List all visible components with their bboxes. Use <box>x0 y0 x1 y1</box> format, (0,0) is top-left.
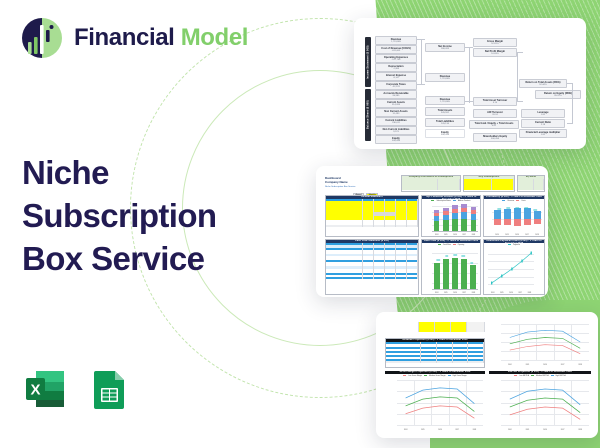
brand-logo[interactable]: Financial Model <box>20 16 248 60</box>
chart-plot-area: 700 810 830 820 640 <box>432 249 478 289</box>
dashboard-card[interactable]: Dashboard Company Name Niche Subscriptio… <box>316 166 548 297</box>
file-format-icons: X <box>22 366 132 412</box>
chart-ebitda-projection: EBITDA Projection ($ 000) - 5 Years to D… <box>489 371 591 433</box>
data-label: 830 <box>453 255 457 256</box>
dashboard-screenshot: Dashboard Company Name Niche Subscriptio… <box>321 171 543 292</box>
chart-gross-margin-projection: Gross Margin Projection ($ 000) - 5 Year… <box>385 371 485 433</box>
page-title: Niche Subscription Box Service <box>22 152 272 281</box>
chart-x-labels: 20242025 20262027 2028 <box>488 293 534 294</box>
data-label: 810 <box>445 256 449 257</box>
tree-node: Financial Leverage multiplier1.82 <box>519 129 567 138</box>
data-label: 390 <box>524 207 528 208</box>
panel-assumptions <box>385 322 485 336</box>
chart-legend: Low Gross Margin Medium Gross Margin Hig… <box>385 374 485 377</box>
chart-legend: Cash Flow Opening <box>422 243 480 246</box>
tree-node: Equity300,458 <box>425 129 465 138</box>
google-sheets-icon[interactable] <box>86 366 132 412</box>
dashboard-subtitle: Niche Subscription Box Service <box>325 186 356 188</box>
promo-banner: Financial Model Niche Subscription Box S… <box>0 0 600 448</box>
chart-revenue-projection: 20242025 20262027 2028 <box>489 322 591 368</box>
brand-name-primary: Financial <box>74 24 181 51</box>
brand-name-accent: Model <box>181 24 248 51</box>
data-label: 380 <box>506 208 510 209</box>
dupont-analysis-card[interactable]: Income Statement ($ 000) Balance Sheet (… <box>354 18 586 149</box>
chart-profitability: Profitability ($ 000) - 5 Years to Decem… <box>483 195 545 237</box>
chart-plot-area <box>501 380 589 425</box>
microsoft-excel-icon[interactable]: X <box>22 366 68 412</box>
chart-plot-area <box>432 206 478 231</box>
svg-text:X: X <box>30 382 40 399</box>
data-label: 400 <box>515 207 519 208</box>
data-label: 640 <box>470 262 474 263</box>
chart-plot-area <box>501 324 589 360</box>
chart-plot-area <box>397 380 483 425</box>
tree-node: Total Assets545,592 <box>425 107 465 116</box>
tree-node: Equity300,458 <box>375 135 417 144</box>
chart-x-labels: 20242025 20262027 2028 <box>501 430 589 431</box>
panel-company-info: Company Information & Assumptions <box>401 175 461 192</box>
tree-node: Corporate Taxes-92,229 <box>375 81 417 90</box>
chart-x-labels: 20242025 20262027 2028 <box>397 430 483 431</box>
financial-model-circle-chart-icon <box>20 16 64 60</box>
panel-summary-table: Revenue Projection ($ 000) - 5 Years to … <box>385 338 485 368</box>
tree-node: Total Liab / Equity + Total Assets0.81 <box>469 120 519 129</box>
headline-line-2: Subscription <box>22 195 272 238</box>
chart-legend: Revenue Costs <box>484 199 544 202</box>
panel-ratios: Key Ratios <box>517 175 545 192</box>
chart-x-labels: 20242025 20262027 2028 <box>432 235 478 236</box>
tree-node: Current Liabilities236,011 <box>375 117 417 126</box>
tree-node: Net Profit Margin16.63% <box>473 48 517 57</box>
chart-x-labels: 20242025 20262027 2028 <box>432 293 478 294</box>
panel-key-assumptions: Key Assumptions <box>463 175 515 192</box>
tree-node: Gross Margin52.81% <box>473 38 517 47</box>
chart-plot-area: 330 380 400 390 310 <box>492 205 542 231</box>
panel-cash-flow-statement: Cash Flow Statement ($ 000) <box>325 239 419 295</box>
tree-node: Cost of Revenue (COGS)-811,605 <box>375 45 417 54</box>
data-label: 330 <box>497 209 501 210</box>
tree-node: Revenue1,719,805 <box>375 36 417 45</box>
tree-node: Non Current Liabilities9,123 <box>375 126 417 135</box>
chart-x-labels: 20242025 20262027 2028 <box>501 365 589 366</box>
dashboard-title: Dashboard Company Name <box>325 177 348 185</box>
chart-legend: Low EBITDA Medium EBITDA High EBITDA <box>489 374 591 377</box>
data-label: 310 <box>533 210 537 211</box>
chart-top-revenue-streams: Top 5 Revenue Streams ($ 000) - 5 Years … <box>421 195 481 237</box>
tree-node: Non Current Assets31,493 <box>375 108 417 117</box>
headline-line-3: Box Service <box>22 238 272 281</box>
tree-node: Operating Expenses-517,748 <box>375 54 417 63</box>
tree-node: A/R Turnover20.24 <box>473 109 517 118</box>
brand-name: Financial Model <box>74 24 248 52</box>
tree-node: Revenue1,719,805 <box>425 96 465 105</box>
data-label: 700 <box>437 260 441 261</box>
revenue-projection-card[interactable]: Revenue Projection ($ 000) - 5 Years to … <box>376 312 598 438</box>
tree-node: Revenue1,719,805 <box>425 73 465 82</box>
chart-cash-flow: Cash Flow ($ 000) - 5 Years to December … <box>421 239 481 295</box>
headline-line-1: Niche <box>22 152 272 195</box>
band-balance-sheet: Balance Sheet ($ 000) <box>365 89 371 141</box>
tree-node: Shareholders Equity300,458 <box>473 133 517 142</box>
tree-node: Current Ratio2.18 <box>521 119 565 128</box>
tree-node: Total Liabilities245,134 <box>425 118 465 127</box>
tree-node: Depreciation-2,983 <box>375 63 417 72</box>
chart-investment-payback: Investment Paybacks Chart ($ 000) - 5 Ye… <box>483 239 545 295</box>
chart-plot-area <box>488 249 534 289</box>
tree-node: Return on Total Assets (ROA)52.44% <box>519 79 567 88</box>
tree-node-roe: Return on Equity (ROE)95.22% <box>535 90 581 99</box>
dupont-analysis-tree: Income Statement ($ 000) Balance Sheet (… <box>359 23 581 144</box>
tree-node: Total Asset Turnover3.15 <box>473 97 517 106</box>
chart-x-labels: 20242025 20262027 2028 <box>492 235 542 236</box>
band-income-statement: Income Statement ($ 000) <box>365 37 371 87</box>
tree-node: Leverage1.82 <box>521 109 565 118</box>
data-label: 820 <box>462 255 466 256</box>
tree-node: Current Assets514,099 <box>375 99 417 108</box>
panel-income-statement: Income Statement <box>325 195 419 237</box>
projection-screenshot: Revenue Projection ($ 000) - 5 Years to … <box>381 317 593 433</box>
tree-node: Accounts Receivable84,985 <box>375 90 417 99</box>
tree-node: Interest Expense-8,147 <box>375 72 417 81</box>
tree-node: Net Income286,093 <box>425 43 465 52</box>
